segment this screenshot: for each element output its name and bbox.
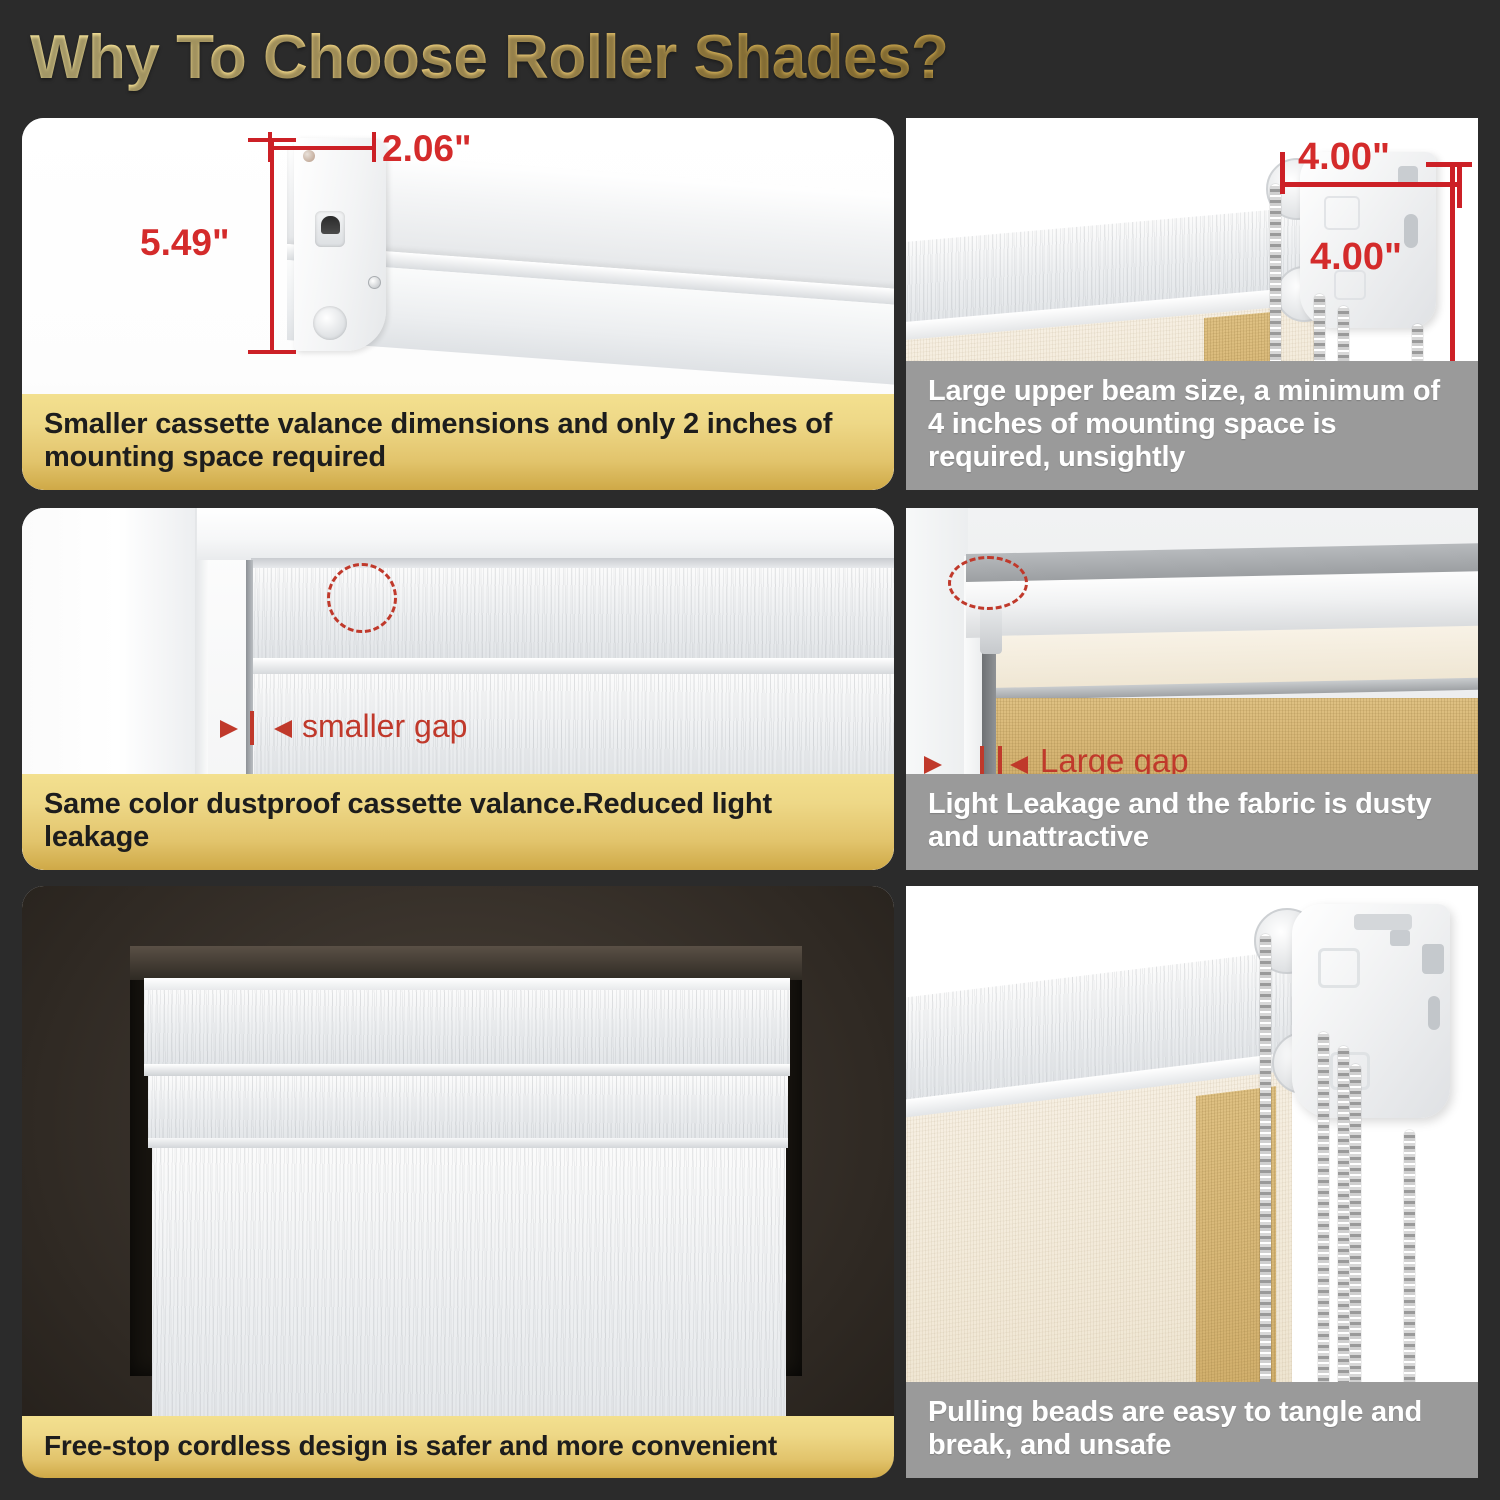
dim-beam-width-tick-left [1280, 152, 1285, 194]
bracket-slot-3 [1428, 996, 1440, 1030]
valance-bottom-lip [251, 658, 894, 674]
caption-middle-left: Same color dustproof cassette valance.Re… [22, 774, 894, 870]
gap-shadow [246, 560, 253, 794]
caption-middle-right: Light Leakage and the fabric is dusty an… [906, 774, 1478, 870]
caption-top-left: Smaller cassette valance dimensions and … [22, 394, 894, 490]
mounting-bracket [1292, 904, 1450, 1118]
bracket-emboss-1 [1324, 196, 1360, 230]
gap-arrow-right-icon [1010, 756, 1028, 774]
dim-beam-height-tick-top [1426, 162, 1472, 167]
dim-beam-width-line [1282, 182, 1462, 187]
panel-top-right: 4.00" 4.00" Large upper beam size, a min… [906, 118, 1478, 490]
screw-top-icon [303, 150, 315, 162]
dimension-label-beam-height: 4.00" [1310, 236, 1402, 279]
photo-cordless-room [22, 886, 894, 1478]
dim-width-tick-right [372, 132, 376, 162]
valance-seam [144, 1064, 790, 1076]
panel-bottom-left: Free-stop cordless design is safer and m… [22, 886, 894, 1478]
dimension-label-beam-width: 4.00" [1298, 136, 1390, 179]
panel-top-left: 2.06" 5.49" Smaller cassette valance dim… [22, 118, 894, 490]
highlight-circle-icon [327, 563, 397, 633]
dim-width-line [268, 146, 376, 150]
highlight-circle-icon [948, 556, 1028, 610]
caption-bottom-right: Pulling beads are easy to tangle and bre… [906, 1382, 1478, 1478]
bracket-slot-top [1354, 914, 1412, 930]
valance-lower-edge [148, 1138, 788, 1148]
dim-height-tick-top [248, 138, 296, 142]
screw-side-icon [368, 276, 381, 289]
gap-arrow-right-icon [274, 720, 292, 738]
window-lintel [130, 946, 802, 980]
panel-bottom-right: Pulling beads are easy to tangle and bre… [906, 886, 1478, 1478]
comparison-grid: 2.06" 5.49" Smaller cassette valance dim… [0, 0, 1500, 1500]
gap-arrow-left-icon [924, 756, 942, 774]
dimension-label-height: 5.49" [140, 222, 230, 264]
panel-middle-left: smaller gap Same color dustproof cassett… [22, 508, 894, 870]
valance-face [144, 990, 790, 1066]
bracket-nub [980, 608, 1002, 654]
bracket-slot-1 [1390, 930, 1410, 946]
caption-top-right: Large upper beam size, a minimum of 4 in… [906, 361, 1478, 490]
caption-bottom-left: Free-stop cordless design is safer and m… [22, 1416, 894, 1478]
bracket-slot-2 [1422, 944, 1444, 974]
gap-arrow-left-icon [220, 720, 238, 738]
tension-knob-icon [313, 306, 347, 340]
dim-height-tick-bottom [248, 350, 296, 354]
window-frame-head [197, 508, 894, 560]
valance-lower [148, 1076, 788, 1142]
dim-beam-width-tick-right [1457, 166, 1462, 208]
roller-socket-icon [321, 216, 340, 234]
dim-height-line [270, 138, 274, 354]
gap-tick-icon [250, 711, 254, 745]
bead-chain-1[interactable] [1260, 934, 1271, 1458]
gap-callout-label: smaller gap [302, 708, 467, 745]
dimension-label-width: 2.06" [382, 128, 472, 170]
panel-middle-right: Large gap Light Leakage and the fabric i… [906, 508, 1478, 870]
bracket-emboss-1 [1318, 948, 1360, 988]
bracket-slot-2 [1404, 214, 1418, 248]
